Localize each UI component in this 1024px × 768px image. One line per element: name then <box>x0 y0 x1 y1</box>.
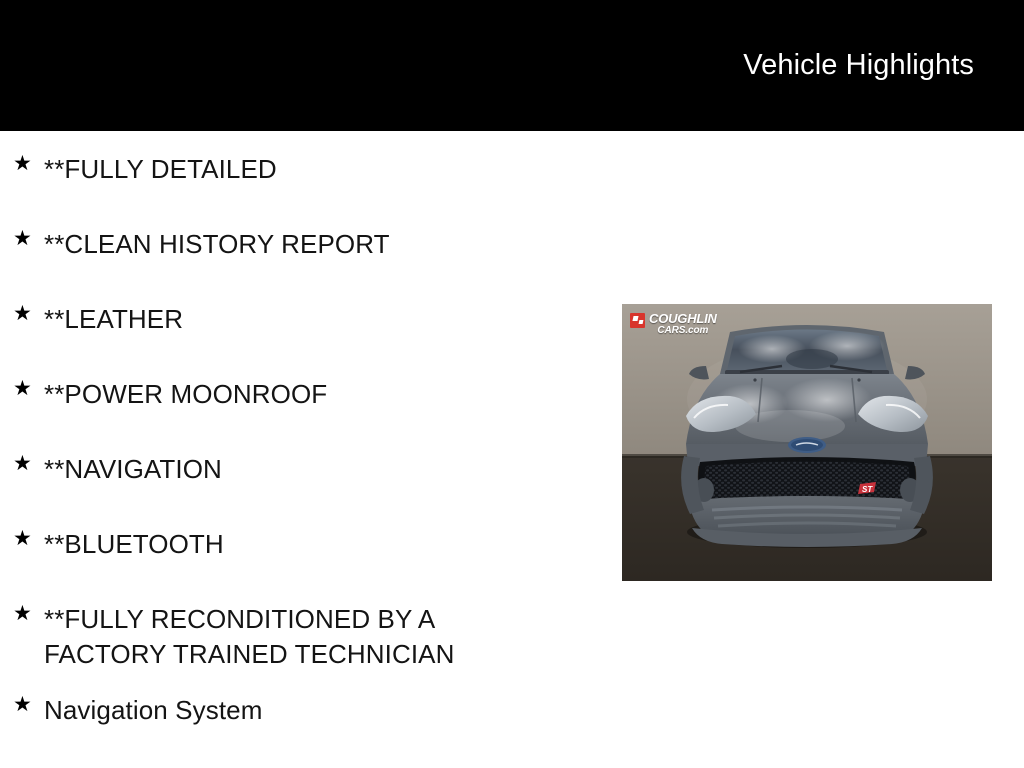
vehicle-photo[interactable]: ST COUGHLIN CARS.com <box>622 304 992 581</box>
list-item-label: **NAVIGATION <box>44 431 620 487</box>
vehicle-highlights-page: Vehicle Highlights ★ **FULLY DETAILED ★ … <box>0 0 1024 768</box>
star-icon: ★ <box>13 378 32 399</box>
list-item: ★ **POWER MOONROOF <box>0 356 620 431</box>
list-item-label: **LEATHER <box>44 281 620 337</box>
star-icon: ★ <box>13 303 32 324</box>
list-item-label: **POWER MOONROOF <box>44 356 620 412</box>
star-icon: ★ <box>13 153 32 174</box>
list-item: ★ **FULLY DETAILED <box>0 131 620 206</box>
list-item-label: Navigation System <box>44 672 620 728</box>
list-item-label: **BLUETOOTH <box>44 506 620 562</box>
list-item-label: **FULLY RECONDITIONED BY A FACTORY TRAIN… <box>44 581 620 672</box>
vehicle-highlights-list: ★ **FULLY DETAILED ★ **CLEAN HISTORY REP… <box>0 131 620 747</box>
star-icon: ★ <box>13 694 32 715</box>
list-item: ★ Navigation System <box>0 672 620 747</box>
star-icon: ★ <box>13 453 32 474</box>
page-title: Vehicle Highlights <box>743 48 974 82</box>
list-item-label: **CLEAN HISTORY REPORT <box>44 206 620 262</box>
star-icon: ★ <box>13 228 32 249</box>
svg-text:ST: ST <box>862 485 873 494</box>
list-item: ★ **BLUETOOTH <box>0 506 620 581</box>
star-icon: ★ <box>13 528 32 549</box>
list-item: ★ **LEATHER <box>0 281 620 356</box>
list-item: ★ **FULLY RECONDITIONED BY A FACTORY TRA… <box>0 581 620 672</box>
star-icon: ★ <box>13 603 32 624</box>
list-item-label: **FULLY DETAILED <box>44 131 620 187</box>
list-item: ★ **CLEAN HISTORY REPORT <box>0 206 620 281</box>
page-header: Vehicle Highlights <box>0 0 1024 131</box>
list-item: ★ **NAVIGATION <box>0 431 620 506</box>
vehicle-photo-image: ST <box>622 304 992 581</box>
